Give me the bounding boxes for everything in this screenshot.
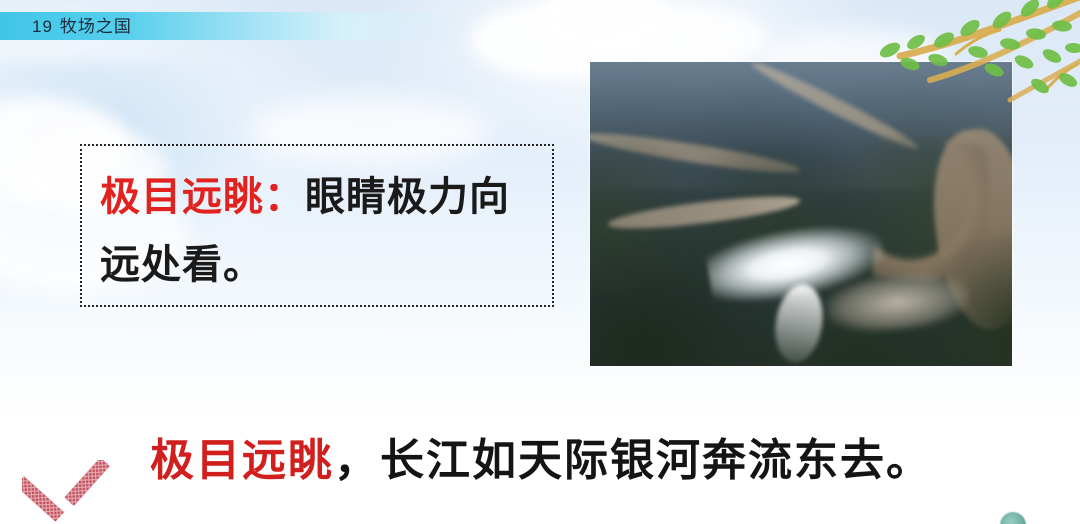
photo-atmospheric-haze <box>590 62 1012 366</box>
definition-box: 极目远眺：眼睛极力向 远处看。 <box>80 144 554 307</box>
lesson-title: 牧场之国 <box>60 17 132 36</box>
definition-explanation-line-1: 眼睛极力向 <box>305 174 510 219</box>
page-title: 19牧场之国 <box>32 13 132 40</box>
windmill-blades-icon <box>22 460 152 524</box>
lesson-number: 19 <box>32 17 53 36</box>
cloud-shape-6 <box>618 8 768 68</box>
sentence-rest: ，长江如天际银河奔流东去。 <box>334 436 932 485</box>
example-sentence: 极目远眺，长江如天际银河奔流东去。 <box>150 424 932 488</box>
definition-line-2: 远处看。 <box>100 232 264 290</box>
definition-term: 极目远眺： <box>100 174 305 219</box>
sentence-highlight: 极目远眺 <box>150 436 334 485</box>
definition-line-1: 极目远眺：眼睛极力向 <box>100 164 510 222</box>
teal-circle-icon <box>1000 512 1026 524</box>
river-photo <box>590 62 1012 366</box>
slide-canvas: 19牧场之国 极目远眺：眼睛极力向 远处看。 极目远眺，长江如天际银河奔流东去。 <box>0 0 1080 524</box>
